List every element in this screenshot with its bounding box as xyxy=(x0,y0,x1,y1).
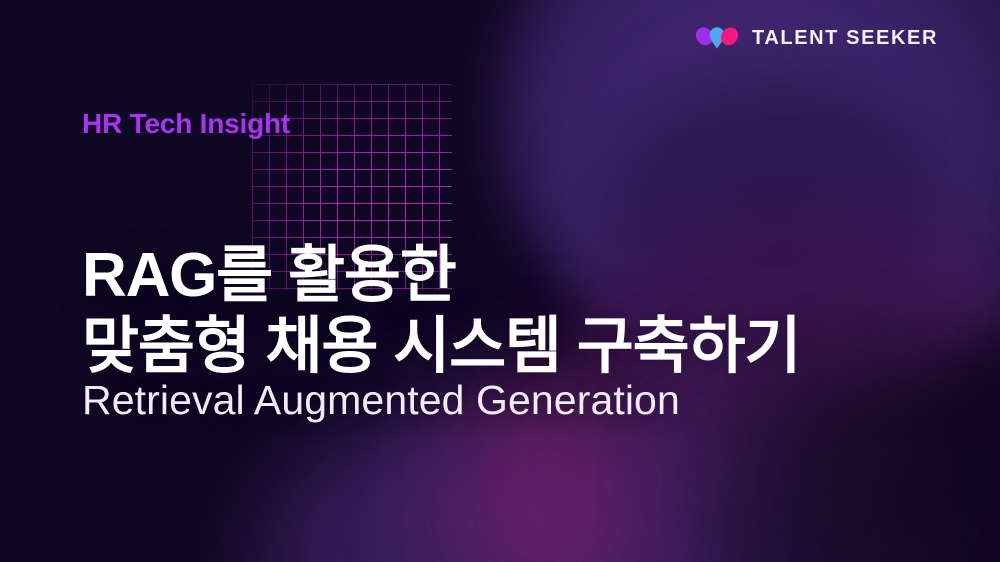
headline-line-1: RAG를 활용한 xyxy=(82,240,952,312)
headline-line-2: 맞춤형 채용 시스템 구축하기 xyxy=(82,311,952,383)
eyebrow-label: HR Tech Insight xyxy=(82,108,290,140)
presentation-slide: TALENT SEEKER HR Tech Insight RAG를 활용한 맞… xyxy=(0,0,1000,562)
slide-subtitle: Retrieval Augmented Generation xyxy=(82,377,680,424)
slide-headline: RAG를 활용한 맞춤형 채용 시스템 구축하기 xyxy=(82,240,952,384)
slide-content: HR Tech Insight RAG를 활용한 맞춤형 채용 시스템 구축하기… xyxy=(82,0,952,562)
